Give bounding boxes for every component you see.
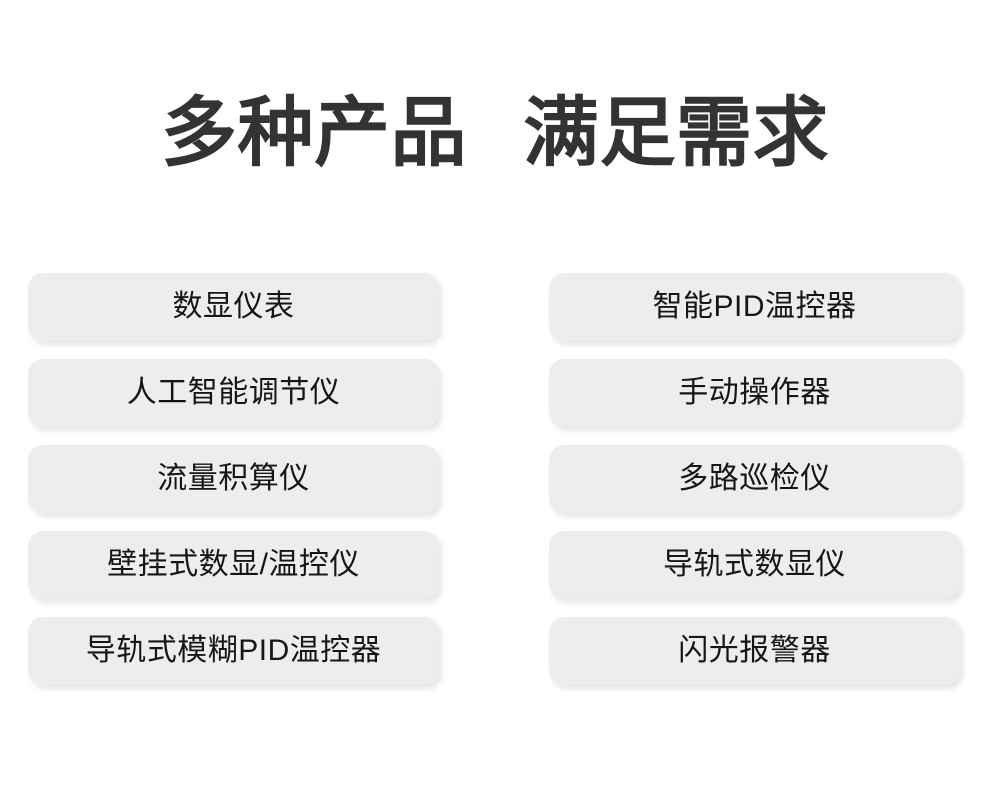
product-category-label: 智能PID温控器 <box>652 290 856 324</box>
product-category-banner: 多种产品满足需求 数显仪表 人工智能调节仪 流量积算仪 壁挂式数显/温控仪 导轨… <box>0 0 990 785</box>
product-category-item-rengongzhinengtiaojieyi[interactable]: 人工智能调节仪 <box>28 359 439 427</box>
product-category-grid: 数显仪表 人工智能调节仪 流量积算仪 壁挂式数显/温控仪 导轨式模糊PID温控器… <box>28 273 960 685</box>
page-title: 多种产品满足需求 <box>0 88 990 180</box>
product-category-item-daoguishi-shuxianyi[interactable]: 导轨式数显仪 <box>549 531 960 599</box>
product-category-label: 导轨式数显仪 <box>663 548 846 582</box>
product-category-item-shanguangbaojingqi[interactable]: 闪光报警器 <box>549 617 960 685</box>
product-category-label: 壁挂式数显/温控仪 <box>107 548 360 582</box>
product-category-item-shoudongcaozuoqi[interactable]: 手动操作器 <box>549 359 960 427</box>
product-category-item-shuxianyibiao[interactable]: 数显仪表 <box>28 273 439 341</box>
product-category-item-liuliangjisuanyi[interactable]: 流量积算仪 <box>28 445 439 513</box>
product-category-label: 数显仪表 <box>173 290 295 324</box>
product-category-item-zhineng-pid[interactable]: 智能PID温控器 <box>549 273 960 341</box>
product-category-label: 手动操作器 <box>678 376 831 410</box>
right-column: 智能PID温控器 手动操作器 多路巡检仪 导轨式数显仪 闪光报警器 <box>549 273 960 685</box>
product-category-label: 人工智能调节仪 <box>127 376 341 410</box>
page-title-segment-2: 满足需求 <box>523 91 829 176</box>
product-category-label: 流量积算仪 <box>157 462 310 496</box>
product-category-label: 导轨式模糊PID温控器 <box>86 634 382 668</box>
product-category-item-daoguishi-moohu-pid[interactable]: 导轨式模糊PID温控器 <box>28 617 439 685</box>
product-category-item-duoluxunjianyi[interactable]: 多路巡检仪 <box>549 445 960 513</box>
left-column: 数显仪表 人工智能调节仪 流量积算仪 壁挂式数显/温控仪 导轨式模糊PID温控器 <box>28 273 439 685</box>
product-category-label: 闪光报警器 <box>678 634 831 668</box>
product-category-label: 多路巡检仪 <box>678 462 831 496</box>
product-category-item-biguashi[interactable]: 壁挂式数显/温控仪 <box>28 531 439 599</box>
page-title-segment-1: 多种产品 <box>161 91 467 176</box>
